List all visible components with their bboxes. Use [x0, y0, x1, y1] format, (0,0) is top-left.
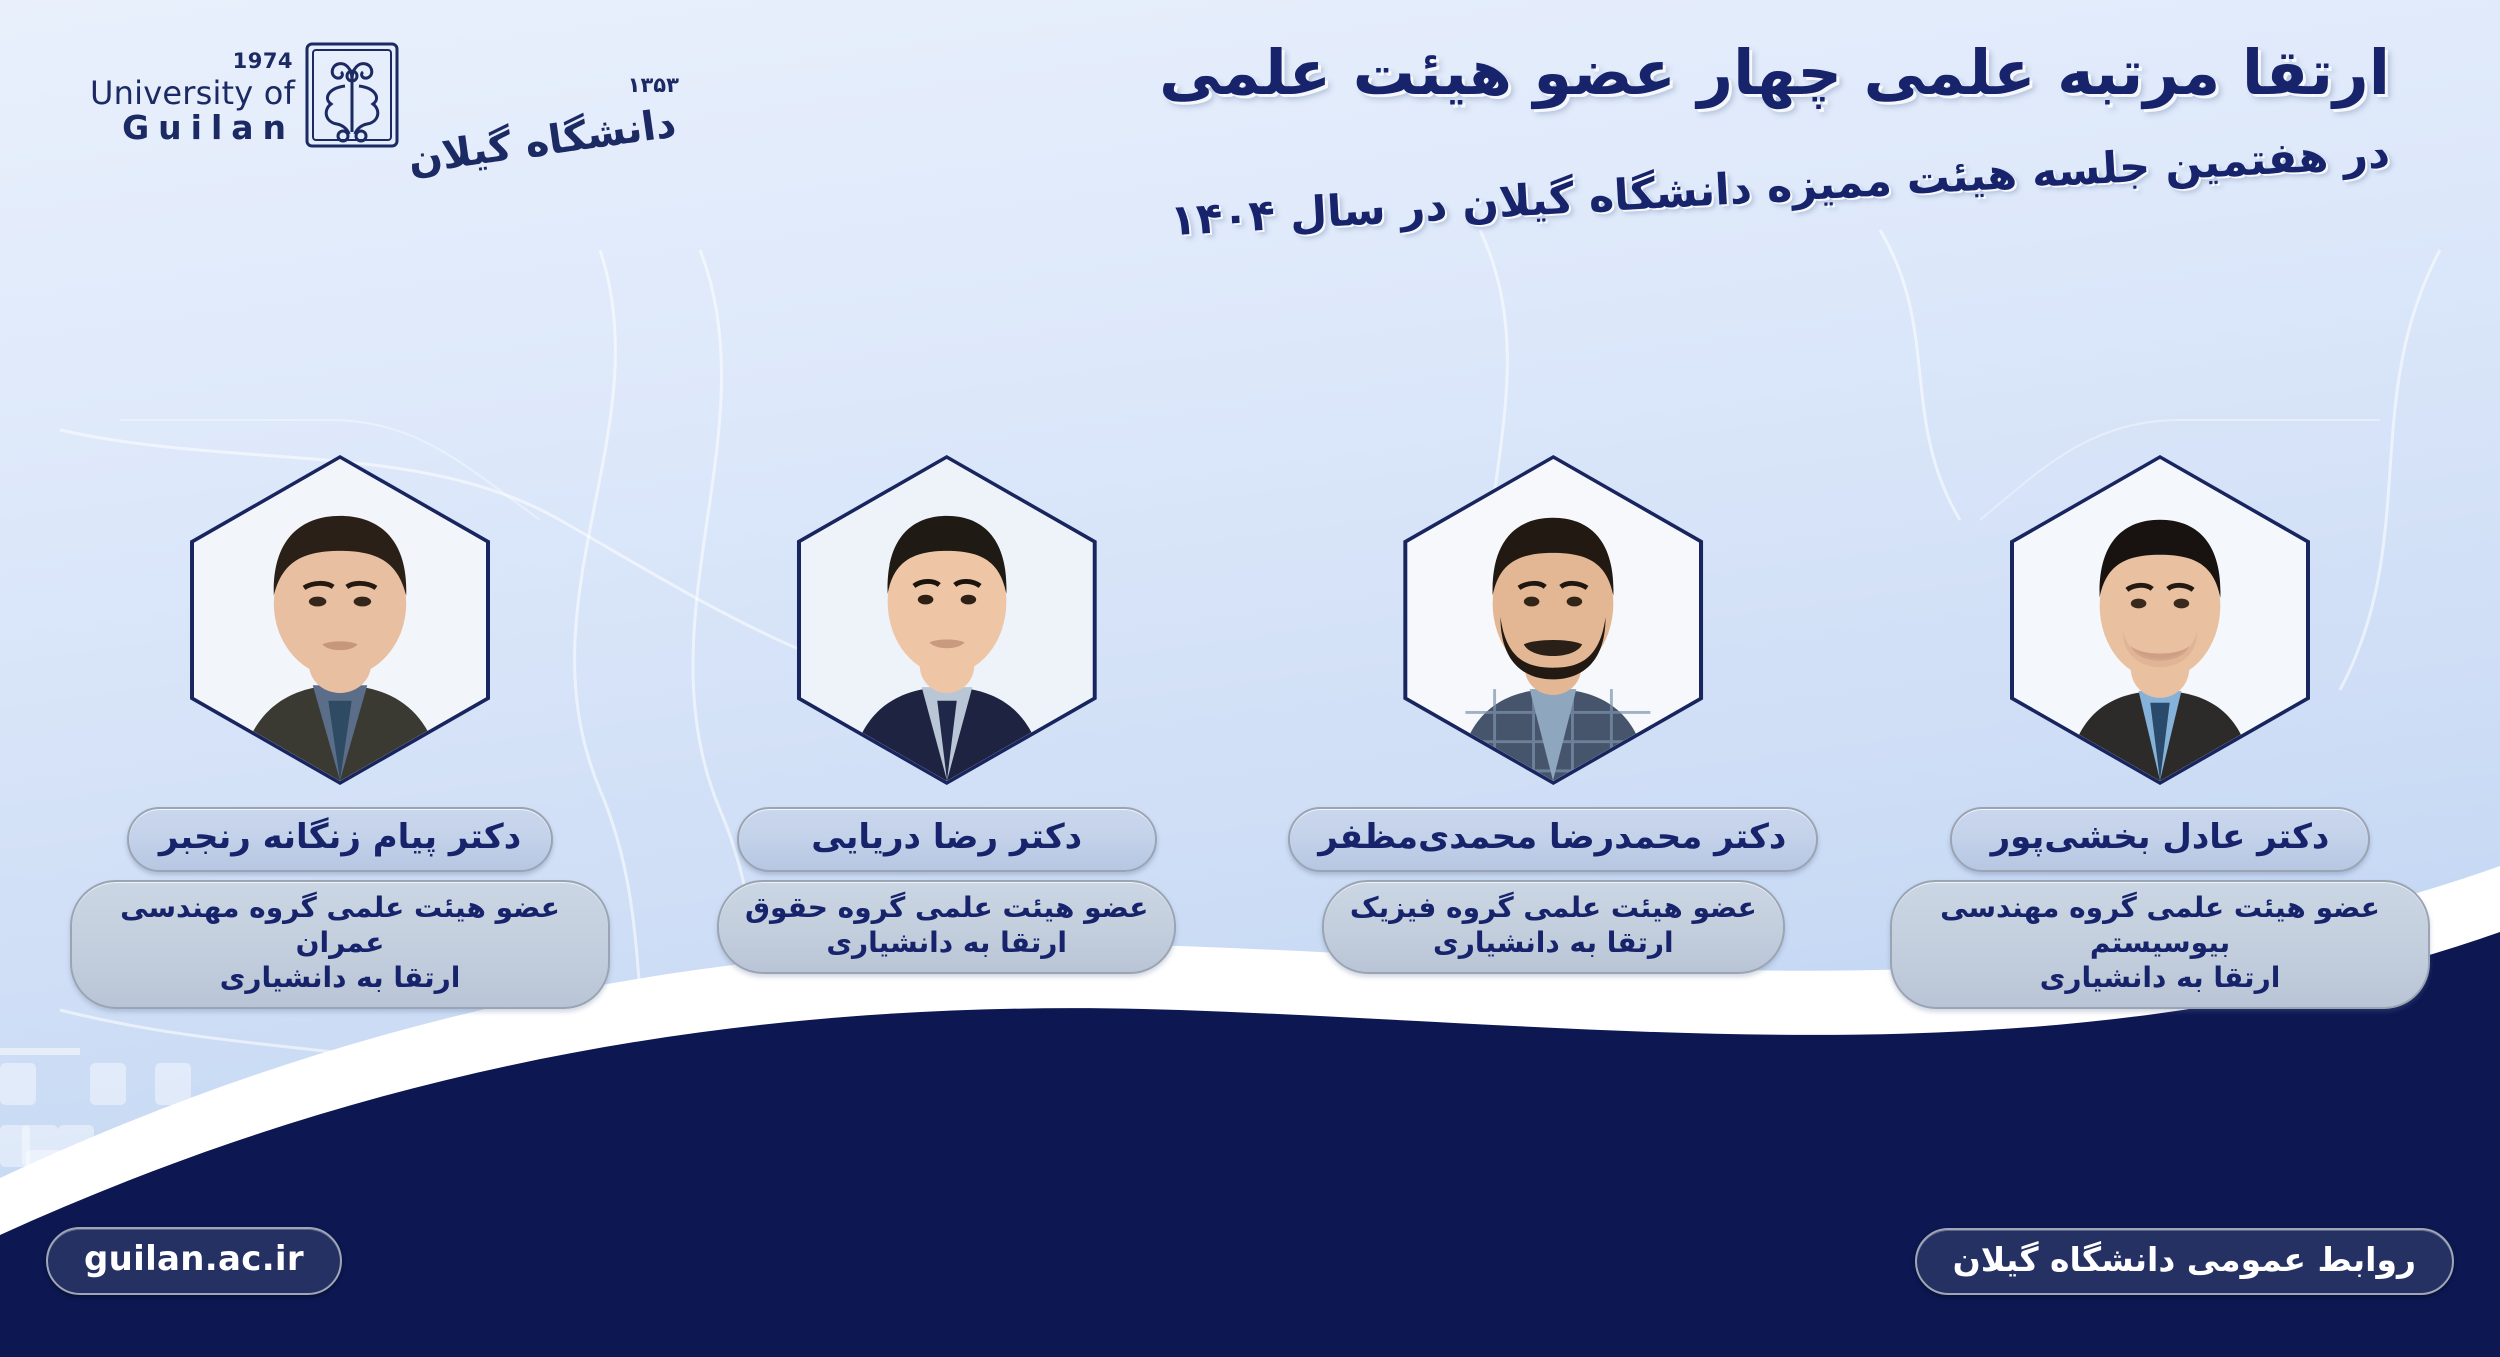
faculty-promotion: ارتقا به دانشیاری [745, 925, 1148, 960]
title-block: ارتقا مرتبه علمی چهار عضو هیئت علمی در ه… [1159, 34, 2390, 181]
faculty-promotion: ارتقا به دانشیاری [98, 960, 582, 995]
logo-university-word: University of [90, 77, 295, 109]
hex-background [1407, 459, 1699, 781]
faculty-promotion: ارتقا به دانشیاری [1918, 960, 2402, 995]
hex-background [801, 459, 1093, 781]
portrait-frame [797, 455, 1097, 785]
logo-english-block: 1974 University of Guilan [90, 51, 295, 150]
public-relations-label: روابط عمومی دانشگاه گیلان [1915, 1228, 2454, 1295]
faculty-card[interactable]: دکتر پیام زنگانه رنجبر عضو هیئت علمی گرو… [60, 455, 620, 1009]
portrait-frame [2010, 455, 2310, 785]
portrait-frame [1403, 455, 1703, 785]
poster-header: 1974 University of Guilan [0, 0, 2500, 210]
logo-year-fa: ۱۳۵۳ [628, 73, 679, 97]
faculty-card[interactable]: دکتر محمدرضا محمدی‌مظفر عضو هیئت علمی گر… [1273, 455, 1833, 1009]
faculty-department: عضو هیئت علمی گروه مهندسی عمران [120, 891, 560, 959]
poster-canvas: 1974 University of Guilan [0, 0, 2500, 1357]
portrait-mohammadreza-mohammadi-mozaffar [1407, 459, 1699, 781]
hex-background [2014, 459, 2306, 781]
faculty-name: دکتر پیام زنگانه رنجبر [127, 807, 553, 872]
logo-university-name-fa: دانشگاه گیلان [405, 100, 679, 183]
faculty-role: عضو هیئت علمی گروه حقوق ارتقا به دانشیار… [717, 880, 1176, 974]
hex-background [194, 459, 486, 781]
guilan-university-emblem-icon [301, 40, 403, 150]
website-link[interactable]: guilan.ac.ir [46, 1227, 342, 1295]
faculty-department: عضو هیئت علمی گروه فیزیک [1350, 891, 1757, 924]
page-title: ارتقا مرتبه علمی چهار عضو هیئت علمی [1159, 34, 2390, 112]
portrait-reza-daryaei [801, 459, 1093, 781]
faculty-name: دکتر رضا دریایی [737, 807, 1157, 872]
portrait-adel-bakhshipour [2014, 459, 2306, 781]
faculty-card[interactable]: دکتر رضا دریایی عضو هیئت علمی گروه حقوق … [667, 455, 1227, 1009]
portrait-frame [190, 455, 490, 785]
faculty-card[interactable]: دکتر عادل بخشی‌پور عضو هیئت علمی گروه مه… [1880, 455, 2440, 1009]
university-logo: 1974 University of Guilan [90, 40, 679, 150]
faculty-role: عضو هیئت علمی گروه فیزیک ارتقا به دانشیا… [1322, 880, 1785, 974]
logo-year-en: 1974 [233, 51, 293, 72]
logo-guilan-word: Guilan [122, 111, 295, 144]
portrait-payam-zanganeh-ranjbar [194, 459, 486, 781]
faculty-department: عضو هیئت علمی گروه حقوق [745, 891, 1148, 924]
faculty-name: دکتر عادل بخشی‌پور [1950, 807, 2370, 872]
faculty-name: دکتر محمدرضا محمدی‌مظفر [1288, 807, 1818, 872]
faculty-role: عضو هیئت علمی گروه مهندسی بیوسیستم ارتقا… [1890, 880, 2430, 1009]
logo-persian-block: ۱۳۵۳ دانشگاه گیلان [409, 73, 679, 150]
faculty-role: عضو هیئت علمی گروه مهندسی عمران ارتقا به… [70, 880, 610, 1009]
faculty-department: عضو هیئت علمی گروه مهندسی بیوسیستم [1940, 891, 2380, 959]
faculty-promotion: ارتقا به دانشیاری [1350, 925, 1757, 960]
faculty-list: دکتر عادل بخشی‌پور عضو هیئت علمی گروه مه… [0, 455, 2500, 1009]
